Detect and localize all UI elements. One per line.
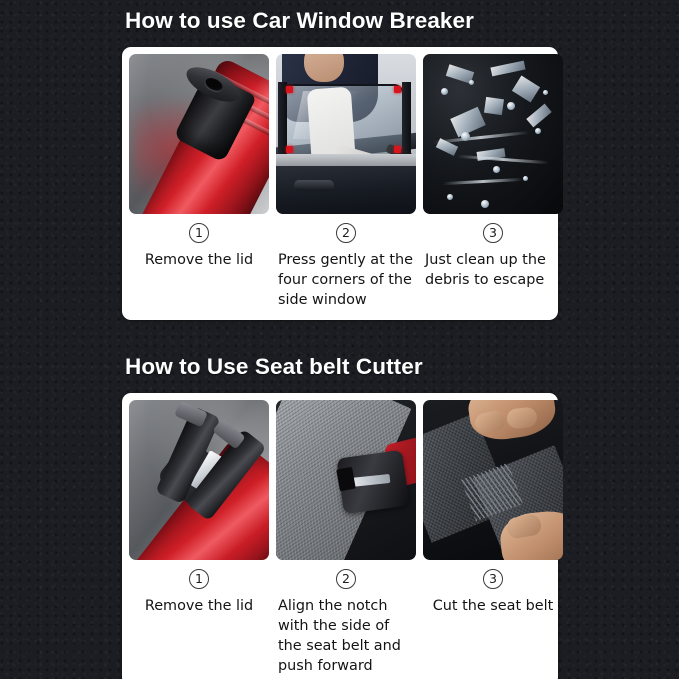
glass-fragment (447, 194, 453, 200)
step-caption-cell: 3 Cut the seat belt (423, 569, 563, 676)
glass-fragment (481, 200, 489, 208)
step-caption-cell: 2 Press gently at the four corners of th… (276, 223, 416, 310)
panel-row (129, 400, 551, 560)
section-title: How to Use Seat belt Cutter (122, 350, 558, 384)
step-image-red-tube-black-cap (129, 54, 269, 214)
step-caption-cell: 3 Just clean up the debris to escape (423, 223, 563, 310)
glass-fragment (535, 128, 541, 134)
glass-fragment (507, 102, 515, 110)
panel-row (129, 54, 551, 214)
step-image-cutter-on-belt (276, 400, 416, 560)
step-caption: Remove the lid (129, 250, 269, 270)
glass-fragment (543, 90, 548, 95)
section-seat-belt-cutter: How to Use Seat belt Cutter (122, 350, 558, 679)
caption-row: 1 Remove the lid 2 Align the notch with … (129, 560, 551, 679)
glass-fragment (493, 166, 500, 173)
step-caption: Cut the seat belt (423, 596, 563, 616)
step-number-badge: 3 (483, 223, 503, 243)
glass-shard (484, 97, 504, 115)
step-number-badge: 1 (189, 569, 209, 589)
corner-marker (286, 86, 293, 93)
caption-row: 1 Remove the lid 2 Press gently at the f… (129, 214, 551, 320)
step-caption-cell: 2 Align the notch with the side of the s… (276, 569, 416, 676)
glass-fragment (469, 80, 474, 85)
corner-marker (286, 146, 293, 153)
step-caption: Remove the lid (129, 596, 269, 616)
steps-card: 1 Remove the lid 2 Press gently at the f… (122, 47, 558, 320)
door-pillar (402, 82, 411, 158)
glass-fragment (461, 132, 470, 141)
step-caption: Align the notch with the side of the sea… (276, 596, 416, 676)
corner-marker (394, 86, 401, 93)
step-caption: Press gently at the four corners of the … (276, 250, 416, 310)
step-number-badge: 2 (336, 569, 356, 589)
step-number-badge: 1 (189, 223, 209, 243)
step-caption-cell: 1 Remove the lid (129, 223, 269, 310)
section-title: How to use Car Window Breaker (122, 4, 558, 38)
step-image-cut-belt-in-hands (423, 400, 563, 560)
door-handle (294, 180, 334, 191)
glass-fragment (523, 176, 528, 181)
step-number-badge: 2 (336, 223, 356, 243)
step-number-badge: 3 (483, 569, 503, 589)
infographic-page: How to use Car Window Breaker (0, 0, 679, 679)
step-image-pressing-window (276, 54, 416, 214)
step-image-glass-debris (423, 54, 563, 214)
step-image-cutter-prongs (129, 400, 269, 560)
corner-marker (394, 146, 401, 153)
step-caption: Just clean up the debris to escape (423, 250, 563, 290)
section-car-window-breaker: How to use Car Window Breaker (122, 4, 558, 320)
step-caption-cell: 1 Remove the lid (129, 569, 269, 676)
steps-card: 1 Remove the lid 2 Align the notch with … (122, 393, 558, 679)
glass-fragment (441, 88, 448, 95)
